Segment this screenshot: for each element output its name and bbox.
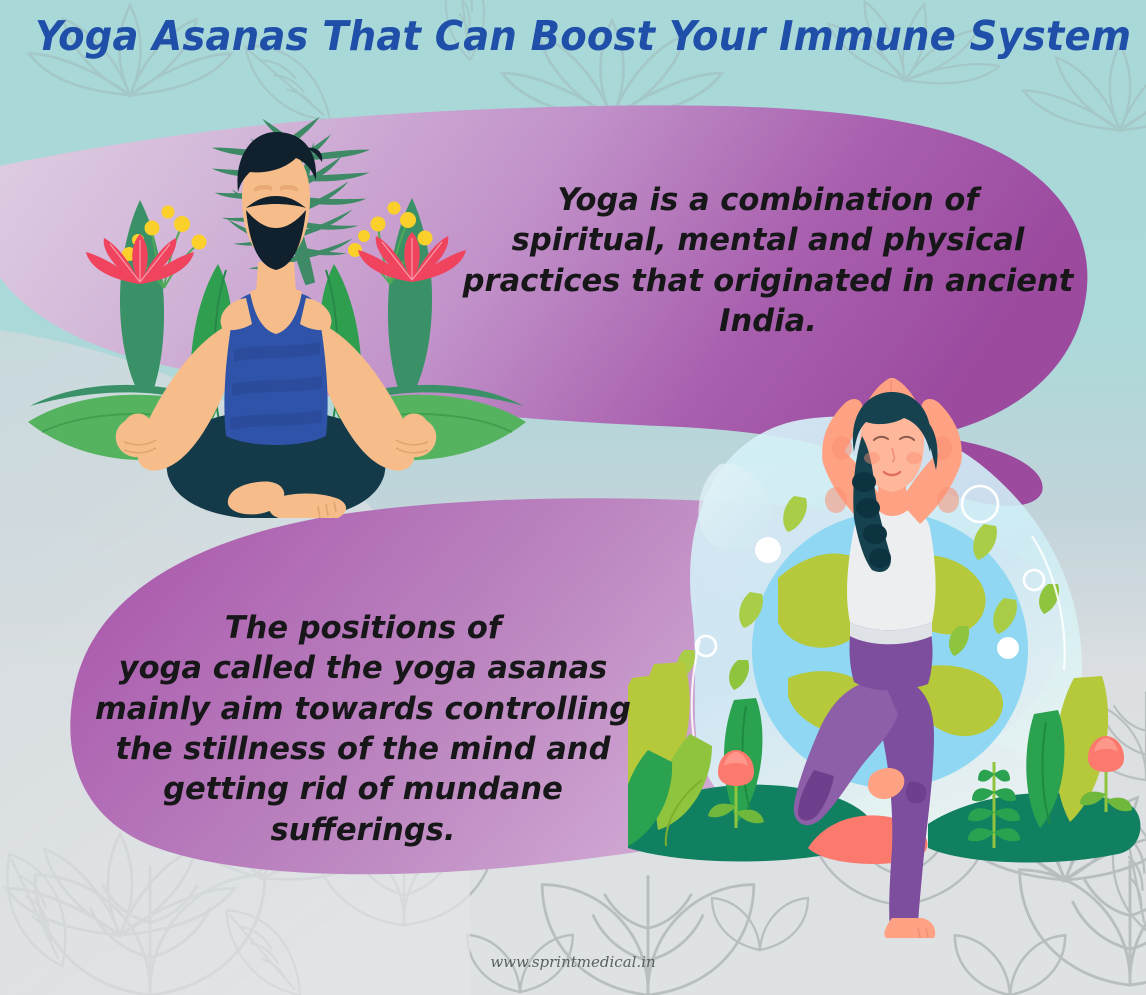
meditating-man-illustration [18, 88, 538, 518]
tree-pose-woman-illustration [628, 378, 1146, 938]
quote-text-bottom: The positions of yoga called the yoga as… [87, 608, 640, 850]
footer-website-url: www.sprintmedical.in [0, 953, 1146, 971]
quote-text-top: Yoga is a combination of spiritual, ment… [461, 180, 1074, 341]
infographic-poster: Yoga Asanas That Can Boost Your Immune S… [0, 0, 1146, 995]
title-container: Yoga Asanas That Can Boost Your Immune S… [0, 12, 1146, 60]
page-title: Yoga Asanas That Can Boost Your Immune S… [35, 12, 1131, 60]
